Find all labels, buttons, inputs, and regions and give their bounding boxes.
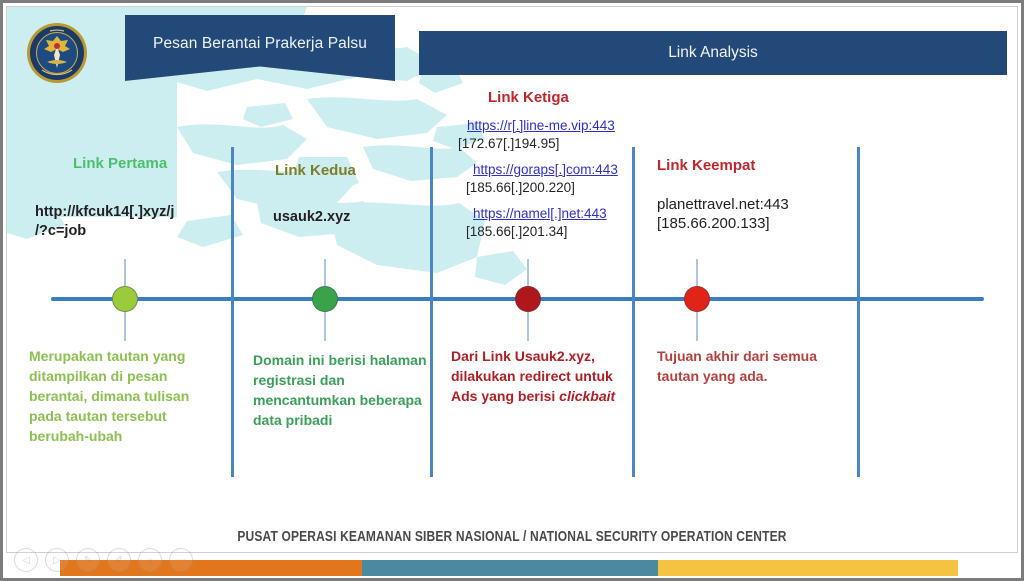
node-value-line: usauk2.xyz bbox=[273, 208, 423, 227]
node-description-link-pertama: Merupakan tautan yang ditampilkan di pes… bbox=[29, 347, 225, 446]
previous-slide-button[interactable]: ◁ bbox=[14, 548, 38, 572]
bssn-garuda-emblem bbox=[26, 22, 88, 84]
node-value-line: planettravel.net:443 bbox=[657, 195, 847, 214]
column-divider-2 bbox=[430, 147, 433, 477]
more-options-button[interactable]: ⋯ bbox=[169, 548, 193, 572]
resolved-ip: [185.66[.]200.220] bbox=[466, 179, 647, 197]
node-value-line: http://kfcuk14[.]xyz/j bbox=[35, 203, 225, 222]
node-stem-4b bbox=[696, 307, 698, 341]
node-value-link-pertama: http://kfcuk14[.]xyz/j /?c=job bbox=[35, 203, 225, 240]
footer-strip-teal bbox=[362, 560, 658, 576]
pen-tool-button[interactable]: ✎ bbox=[76, 548, 100, 572]
node-label-link-keempat: Link Keempat bbox=[657, 157, 755, 174]
node-description-emphasis: clickbait bbox=[559, 388, 615, 404]
next-slide-button[interactable]: ▷ bbox=[45, 548, 69, 572]
node-stem-3b bbox=[527, 307, 529, 341]
column-divider-4 bbox=[857, 147, 860, 477]
malicious-url-link[interactable]: https://namel[.]net:443 bbox=[473, 205, 647, 223]
node-stem-1b bbox=[124, 307, 126, 341]
highlighter-tool-button[interactable]: ✐ bbox=[107, 548, 131, 572]
node-stem-2b bbox=[324, 307, 326, 341]
footer-strip-yellow bbox=[658, 560, 958, 576]
timeline-node-dot-2[interactable] bbox=[312, 286, 338, 312]
node-value-line: /?c=job bbox=[35, 222, 225, 241]
playback-controls: ◁ ▷ ✎ ✐ ⌕ ⋯ bbox=[14, 548, 193, 572]
node-label-link-pertama: Link Pertama bbox=[73, 155, 167, 172]
node-value-link-keempat: planettravel.net:443 [185.66.200.133] bbox=[657, 195, 847, 233]
slide-canvas: Pesan Berantai Prakerja Palsu Link Analy… bbox=[6, 6, 1018, 553]
node-value-link-kedua: usauk2.xyz bbox=[273, 208, 423, 227]
node-description-link-keempat: Tujuan akhir dari semua tautan yang ada. bbox=[657, 347, 837, 387]
malicious-url-link[interactable]: https://r[.]line-me.vip:443 bbox=[467, 117, 647, 135]
timeline-node-dot-4[interactable] bbox=[684, 286, 710, 312]
node-description-link-kedua: Domain ini berisi halaman registrasi dan… bbox=[253, 351, 429, 431]
node-value-line: [185.66.200.133] bbox=[657, 214, 847, 233]
node-label-link-kedua: Link Kedua bbox=[275, 162, 356, 179]
zoom-tool-button[interactable]: ⌕ bbox=[138, 548, 162, 572]
resolved-ip: [172.67[.]194.95] bbox=[458, 135, 647, 153]
node-label-link-ketiga: Link Ketiga bbox=[488, 89, 569, 106]
title-banner: Link Analysis bbox=[419, 31, 1007, 75]
timeline-node-dot-3[interactable] bbox=[515, 286, 541, 312]
page-title: Link Analysis bbox=[668, 44, 758, 62]
resolved-ip: [185.66[.]201.34] bbox=[466, 223, 647, 241]
node-urls-link-ketiga: https://r[.]line-me.vip:443 [172.67[.]19… bbox=[467, 117, 647, 240]
presentation-slide: Pesan Berantai Prakerja Palsu Link Analy… bbox=[0, 0, 1024, 581]
malicious-url-link[interactable]: https://goraps[.]com:443 bbox=[473, 161, 647, 179]
left-banner-label: Pesan Berantai Prakerja Palsu bbox=[153, 15, 367, 52]
column-divider-1 bbox=[231, 147, 234, 477]
timeline-node-dot-1[interactable] bbox=[112, 286, 138, 312]
footer-title: PUSAT OPERASI KEAMANAN SIBER NASIONAL / … bbox=[102, 528, 921, 545]
node-description-link-ketiga: Dari Link Usauk2.xyz, dilakukan redirect… bbox=[451, 347, 637, 407]
